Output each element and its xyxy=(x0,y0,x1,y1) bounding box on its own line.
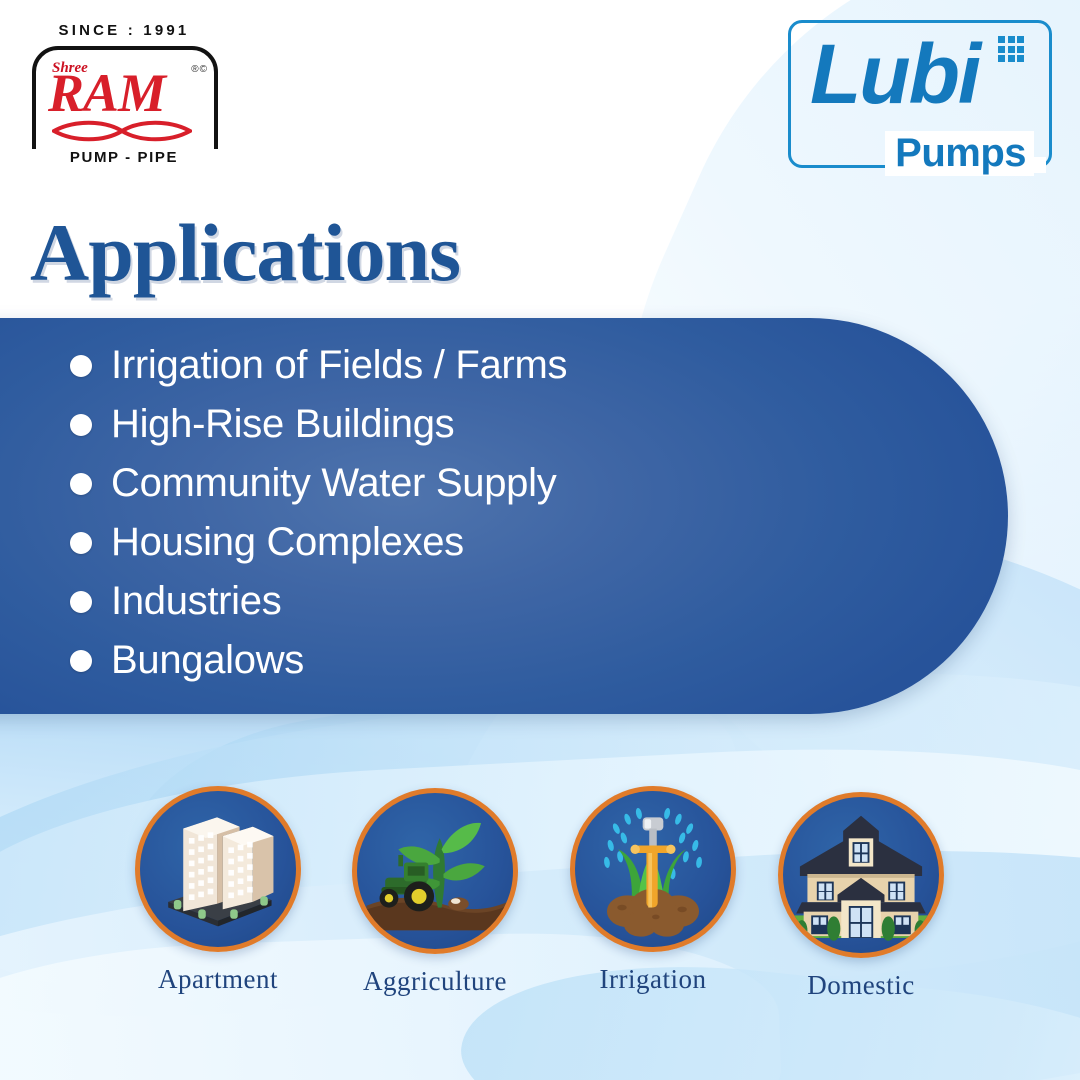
icon-card-label: Aggriculture xyxy=(352,966,518,997)
shree-ram-logo: SINCE : 1991 Shree RAM ®© PUMP - PIPE xyxy=(24,22,224,170)
icon-card-apartment: Apartment xyxy=(135,786,301,995)
icon-card-row: Apartment xyxy=(0,786,1080,1016)
list-item-label: Bungalows xyxy=(111,638,304,683)
bullet-dot-icon xyxy=(70,355,92,377)
ram-wordmark: RAM xyxy=(48,66,188,120)
bullet-dot-icon xyxy=(70,650,92,672)
list-item: Irrigation of Fields / Farms xyxy=(70,336,930,395)
icon-card-agriculture: Aggriculture xyxy=(352,788,518,997)
grid-squares-icon xyxy=(998,36,1024,62)
registered-mark: ®© xyxy=(191,64,208,75)
list-item-label: Irrigation of Fields / Farms xyxy=(111,343,567,388)
list-item: Bungalows xyxy=(70,631,930,690)
list-item-label: Housing Complexes xyxy=(111,520,464,565)
icon-card-label: Apartment xyxy=(135,964,301,995)
icon-card-label: Irrigation xyxy=(570,964,736,995)
icon-card-irrigation: Irrigation xyxy=(570,786,736,995)
list-item: Community Water Supply xyxy=(70,454,930,513)
list-item: Housing Complexes xyxy=(70,513,930,572)
list-item-label: Industries xyxy=(111,579,281,624)
list-item-label: Community Water Supply xyxy=(111,461,556,506)
tractor-plant-icon xyxy=(352,788,518,954)
bullet-dot-icon xyxy=(70,591,92,613)
list-item-label: High-Rise Buildings xyxy=(111,402,454,447)
page-title: Applications xyxy=(30,212,460,294)
pump-pipe-text: PUMP - PIPE xyxy=(24,149,224,166)
sprinkler-icon xyxy=(570,786,736,952)
pumps-text: Pumps xyxy=(885,131,1034,176)
lubi-pumps-logo: Lubi Pumps xyxy=(788,20,1052,168)
since-text: SINCE : 1991 xyxy=(24,22,224,39)
swoosh-icon xyxy=(52,120,192,142)
list-item: Industries xyxy=(70,572,930,631)
house-icon xyxy=(778,792,944,958)
bullet-dot-icon xyxy=(70,473,92,495)
lubi-wordmark: Lubi xyxy=(810,26,979,123)
apartment-buildings-icon xyxy=(135,786,301,952)
icon-card-label: Domestic xyxy=(778,970,944,1001)
poster-canvas: SINCE : 1991 Shree RAM ®© PUMP - PIPE Lu… xyxy=(0,0,1080,1080)
icon-card-domestic: Domestic xyxy=(778,792,944,1001)
bullet-dot-icon xyxy=(70,532,92,554)
list-item: High-Rise Buildings xyxy=(70,395,930,454)
applications-list: Irrigation of Fields / Farms High-Rise B… xyxy=(70,336,930,690)
bullet-dot-icon xyxy=(70,414,92,436)
